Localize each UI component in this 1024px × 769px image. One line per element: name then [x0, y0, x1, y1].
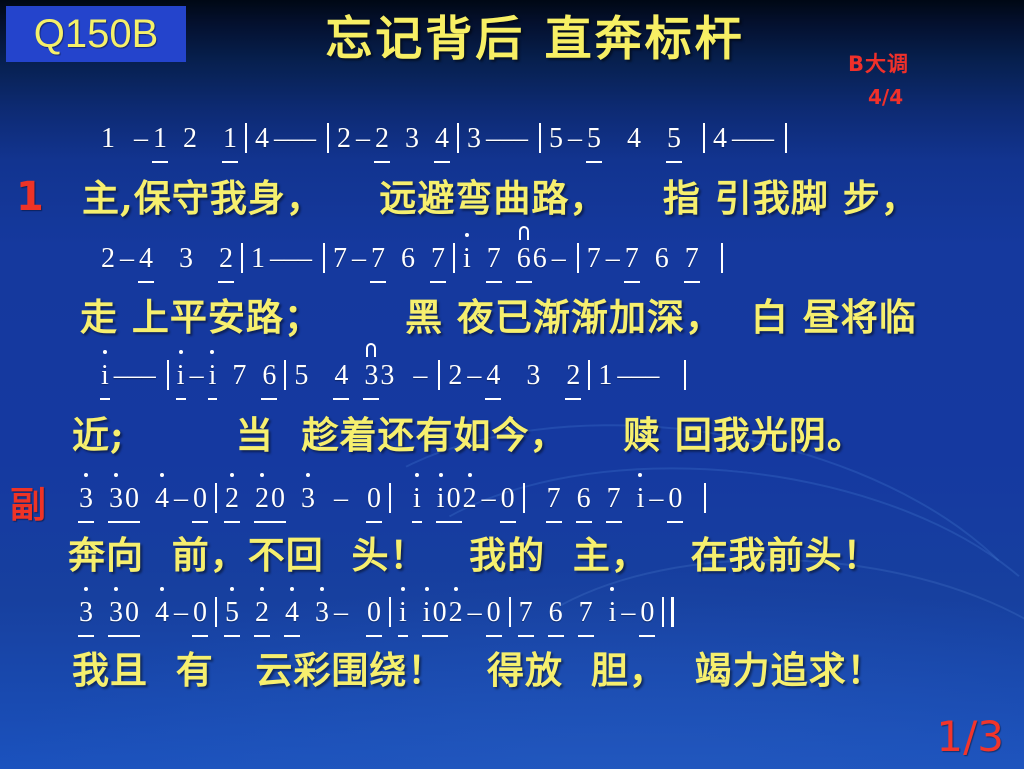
notation-line-4: 3304–02203–0ii02–0767i–0: [78, 478, 713, 523]
verse-marker: 1: [16, 175, 44, 219]
slide-canvas: Q150B 忘记背后 直奔标杆 B大调 4/4 1–1214–––2–2343–…: [0, 0, 1024, 769]
song-code-badge: Q150B: [6, 6, 186, 62]
lyrics-line-5: 我且 有 云彩围绕！ 得放 胆， 竭力追求！: [72, 645, 885, 695]
song-title: 忘记背后 直奔标杆: [230, 8, 840, 72]
lyrics-line-3: 近; 当 趁着还有如今， 赎 回我光阴。: [72, 410, 865, 460]
lyrics-line-4: 奔向 前，不回 头！ 我的 主， 在我前头！: [68, 530, 881, 580]
time-signature: 4/4: [868, 86, 903, 108]
lyrics-line-1: 主,保守我身， 远避弯曲路， 指 引我脚 步，: [82, 173, 919, 223]
notation-line-5: 3304–05243–0ii02–0767i–0: [78, 592, 678, 637]
key-signature: B大调: [848, 52, 909, 76]
notation-line-1: 1–1214–––2–2343–––5–5454–––: [100, 118, 794, 163]
chorus-marker: 副: [10, 486, 46, 526]
lyrics-line-2: 走 上平安路； 黑 夜已渐渐加深， 白 昼将临: [80, 292, 917, 342]
notation-line-2: 2–4321–––7–767i766–7–767: [100, 238, 730, 283]
notation-line-3: i–––i–i765433–2–4321–––: [100, 355, 693, 400]
page-number: 1/3: [936, 713, 1004, 761]
